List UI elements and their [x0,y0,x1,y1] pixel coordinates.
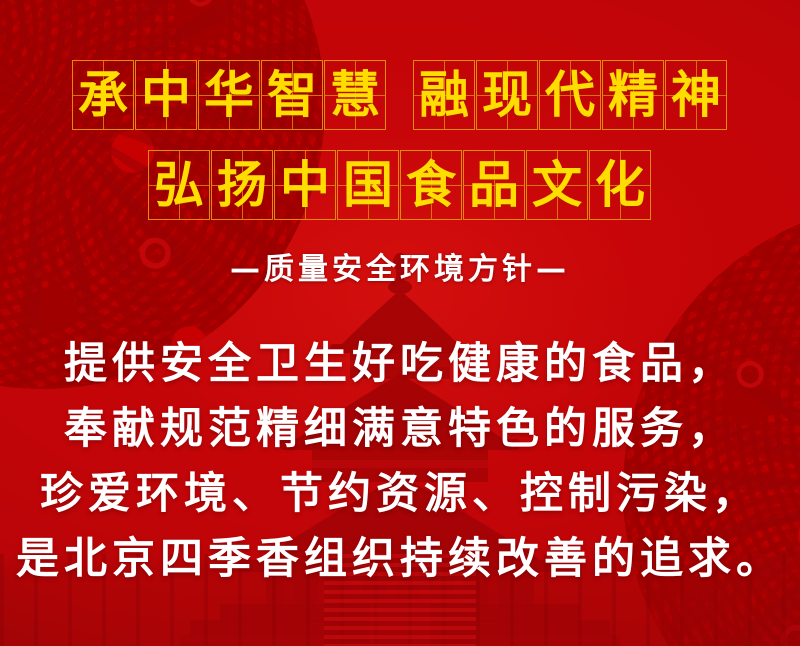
headline-glyph-cell: 中 [135,60,197,130]
headline-glyph-cell: 中 [274,150,336,220]
headline-glyph: 扬 [217,160,267,210]
headline-glyph-cell: 华 [198,60,260,130]
headline-glyph: 中 [280,160,330,210]
headline-glyph-cell: 化 [589,150,651,220]
headline-glyph: 弘 [154,160,204,210]
headline-glyph: 文 [532,160,582,210]
policy-body-line: 珍爱环境、节约资源、控制污染， [0,462,800,527]
headline-word-group-3: 弘 扬 中 国 食 品 文 化 [148,150,652,220]
headline-glyph: 代 [545,70,595,120]
headline-glyph-cell: 现 [476,60,538,130]
policy-body-line: 奉献规范精细满意特色的服务， [0,397,800,462]
headline-glyph: 神 [671,70,721,120]
policy-body: 提供安全卫生好吃健康的食品， 奉献规范精细满意特色的服务， 珍爱环境、节约资源、… [0,332,800,592]
headline-glyph-cell: 精 [602,60,664,130]
headline-glyph-cell: 扬 [211,150,273,220]
headline-glyph: 化 [595,160,645,210]
headline-glyph: 国 [343,160,393,210]
headline-row-2: 弘 扬 中 国 食 品 文 化 [0,150,800,220]
headline-glyph: 现 [482,70,532,120]
poster-canvas: 承 中 华 智 慧 融 现 代 精 神 弘 扬 中 国 食 品 [0,0,800,646]
policy-subtitle: —质量安全环境方针— [0,244,800,288]
headline-glyph: 慧 [330,70,380,120]
headline-word-group-2: 融 现 代 精 神 [413,60,728,130]
poster-content: 承 中 华 智 慧 融 现 代 精 神 弘 扬 中 国 食 品 [0,0,800,646]
policy-body-line: 提供安全卫生好吃健康的食品， [0,332,800,397]
headline-glyph: 承 [78,70,128,120]
headline-glyph-cell: 融 [413,60,475,130]
headline-glyph: 食 [406,160,456,210]
headline-glyph-cell: 国 [337,150,399,220]
headline-glyph: 精 [608,70,658,120]
headline-glyph: 中 [141,70,191,120]
headline-glyph-cell: 代 [539,60,601,130]
headline-glyph-cell: 文 [526,150,588,220]
headline-row-1: 承 中 华 智 慧 融 现 代 精 神 [0,60,800,130]
headline-glyph-cell: 弘 [148,150,210,220]
headline-word-group-1: 承 中 华 智 慧 [72,60,387,130]
headline-glyph: 融 [419,70,469,120]
headline-glyph-cell: 智 [261,60,323,130]
headline-glyph-cell: 神 [665,60,727,130]
policy-body-line: 是北京四季香组织持续改善的追求。 [0,527,800,592]
headline-glyph-cell: 慧 [324,60,386,130]
headline-glyph-cell: 食 [400,150,462,220]
headline-glyph: 华 [204,70,254,120]
headline-glyph-cell: 品 [463,150,525,220]
headline-glyph: 智 [267,70,317,120]
headline-glyph-cell: 承 [72,60,134,130]
headline-glyph: 品 [469,160,519,210]
